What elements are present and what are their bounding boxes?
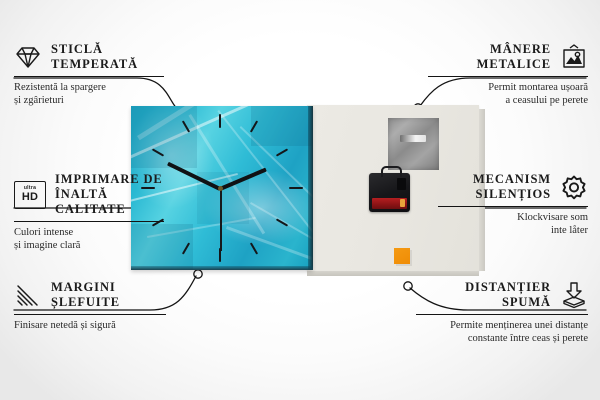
metal-hanger-plate	[388, 118, 439, 170]
feature-subtitle: Finisare netedă și sigură	[14, 319, 166, 332]
feature-imprimare-inalta-calitate: ultra HD IMPRIMARE DE ÎNALTĂ CALITATE Cu…	[14, 172, 164, 252]
feature-title-line1: MÂNERE	[477, 42, 551, 57]
feature-subtitle: Culori intense și imagine clară	[14, 226, 164, 252]
feature-sub-line1: Klockvisare som	[438, 211, 588, 224]
battery-terminal	[400, 199, 405, 207]
panel-bottom-edge	[307, 271, 479, 276]
feature-sub-line1: Finisare netedă și sigură	[14, 319, 166, 332]
callout-dot	[194, 270, 202, 278]
feature-header: STICLĂ TEMPERATĂ	[14, 42, 164, 72]
ultra-hd-icon: ultra HD	[14, 181, 46, 209]
infographic-canvas: STICLĂ TEMPERATĂ Rezistentă la spargere …	[0, 0, 600, 400]
ultra-hd-icon-main: HD	[22, 192, 38, 203]
hanger-slot	[400, 135, 426, 142]
feature-title-line2: ȘLEFUITE	[51, 295, 120, 310]
feature-subtitle: Klockvisare som inte låter	[438, 211, 588, 237]
feature-sub-line1: Rezistentă la spargere	[14, 81, 164, 94]
clock-tick	[276, 148, 288, 156]
feature-title-line1: STICLĂ	[51, 42, 138, 57]
feature-sticla-temperata: STICLĂ TEMPERATĂ Rezistentă la spargere …	[14, 42, 164, 107]
clock-hub	[218, 186, 223, 191]
feature-sub-line2: constante între ceas și perete	[416, 332, 588, 345]
feature-header: MARGINI ȘLEFUITE	[14, 280, 166, 310]
feature-title-line1: MARGINI	[51, 280, 120, 295]
clock-tick	[289, 187, 303, 189]
picture-hanger-icon	[560, 44, 588, 71]
diamond-icon	[14, 44, 42, 71]
foam-spacer-icon	[560, 282, 588, 309]
feature-sub-line1: Permite menținerea unei distanțe	[416, 319, 588, 332]
clock-bottom-edge	[131, 266, 313, 270]
callout-dot	[404, 282, 412, 290]
clock-tick	[219, 114, 221, 128]
feature-subtitle: Rezistentă la spargere și zgârieturi	[14, 81, 164, 107]
feature-title-line1: MECANISM	[473, 172, 551, 187]
feature-title-line2: SILENȚIOS	[473, 187, 551, 202]
feature-title-line2: METALICE	[477, 57, 551, 72]
feature-distantier-spuma: DISTANȚIER SPUMĂ Permite menținerea unei…	[416, 280, 588, 345]
feature-header: MÂNERE METALICE	[428, 42, 588, 72]
feature-subtitle: Permit montarea ușoară a ceasului pe per…	[428, 81, 588, 107]
feature-mecanism-silentios: MECANISM SILENȚIOS Klockvisare som inte …	[438, 172, 588, 237]
foam-spacer	[394, 248, 410, 264]
feature-subtitle: Permite menținerea unei distanțe constan…	[416, 319, 588, 345]
clock-mechanism	[369, 173, 410, 212]
feature-sub-line2: a ceasului pe perete	[428, 94, 588, 107]
feature-sub-line2: inte låter	[438, 224, 588, 237]
clock-tick	[250, 242, 258, 254]
feature-sub-line2: și imagine clară	[14, 239, 164, 252]
feature-margini-slefuite: MARGINI ȘLEFUITE Finisare netedă și sigu…	[14, 280, 166, 332]
feature-title-line2: ÎNALTĂ CALITATE	[55, 187, 164, 217]
clock-right-edge	[308, 106, 313, 270]
feature-rule	[438, 206, 588, 207]
feature-title-line2: SPUMĂ	[465, 295, 551, 310]
feature-rule	[14, 76, 164, 77]
feature-sub-line1: Culori intense	[14, 226, 164, 239]
feature-title-line1: DISTANȚIER	[465, 280, 551, 295]
battery	[372, 198, 407, 209]
feature-header: MECANISM SILENȚIOS	[438, 172, 588, 202]
mechanism-notch	[397, 178, 406, 190]
feature-title-line1: IMPRIMARE DE	[55, 172, 164, 187]
clock-hand-second	[220, 189, 222, 251]
feature-rule	[428, 76, 588, 77]
feature-sub-line2: și zgârieturi	[14, 94, 164, 107]
mechanism-hook	[381, 166, 402, 177]
gear-icon	[560, 174, 588, 201]
feature-title-line2: TEMPERATĂ	[51, 57, 138, 72]
feature-rule	[416, 314, 588, 315]
feature-sub-line1: Permit montarea ușoară	[428, 81, 588, 94]
feature-header: ultra HD IMPRIMARE DE ÎNALTĂ CALITATE	[14, 172, 164, 217]
polished-edges-icon	[14, 282, 42, 309]
feature-rule	[14, 221, 164, 222]
feature-manere-metalice: MÂNERE METALICE Permit montarea ușoară a…	[428, 42, 588, 107]
feature-rule	[14, 314, 166, 315]
feature-header: DISTANȚIER SPUMĂ	[416, 280, 588, 310]
